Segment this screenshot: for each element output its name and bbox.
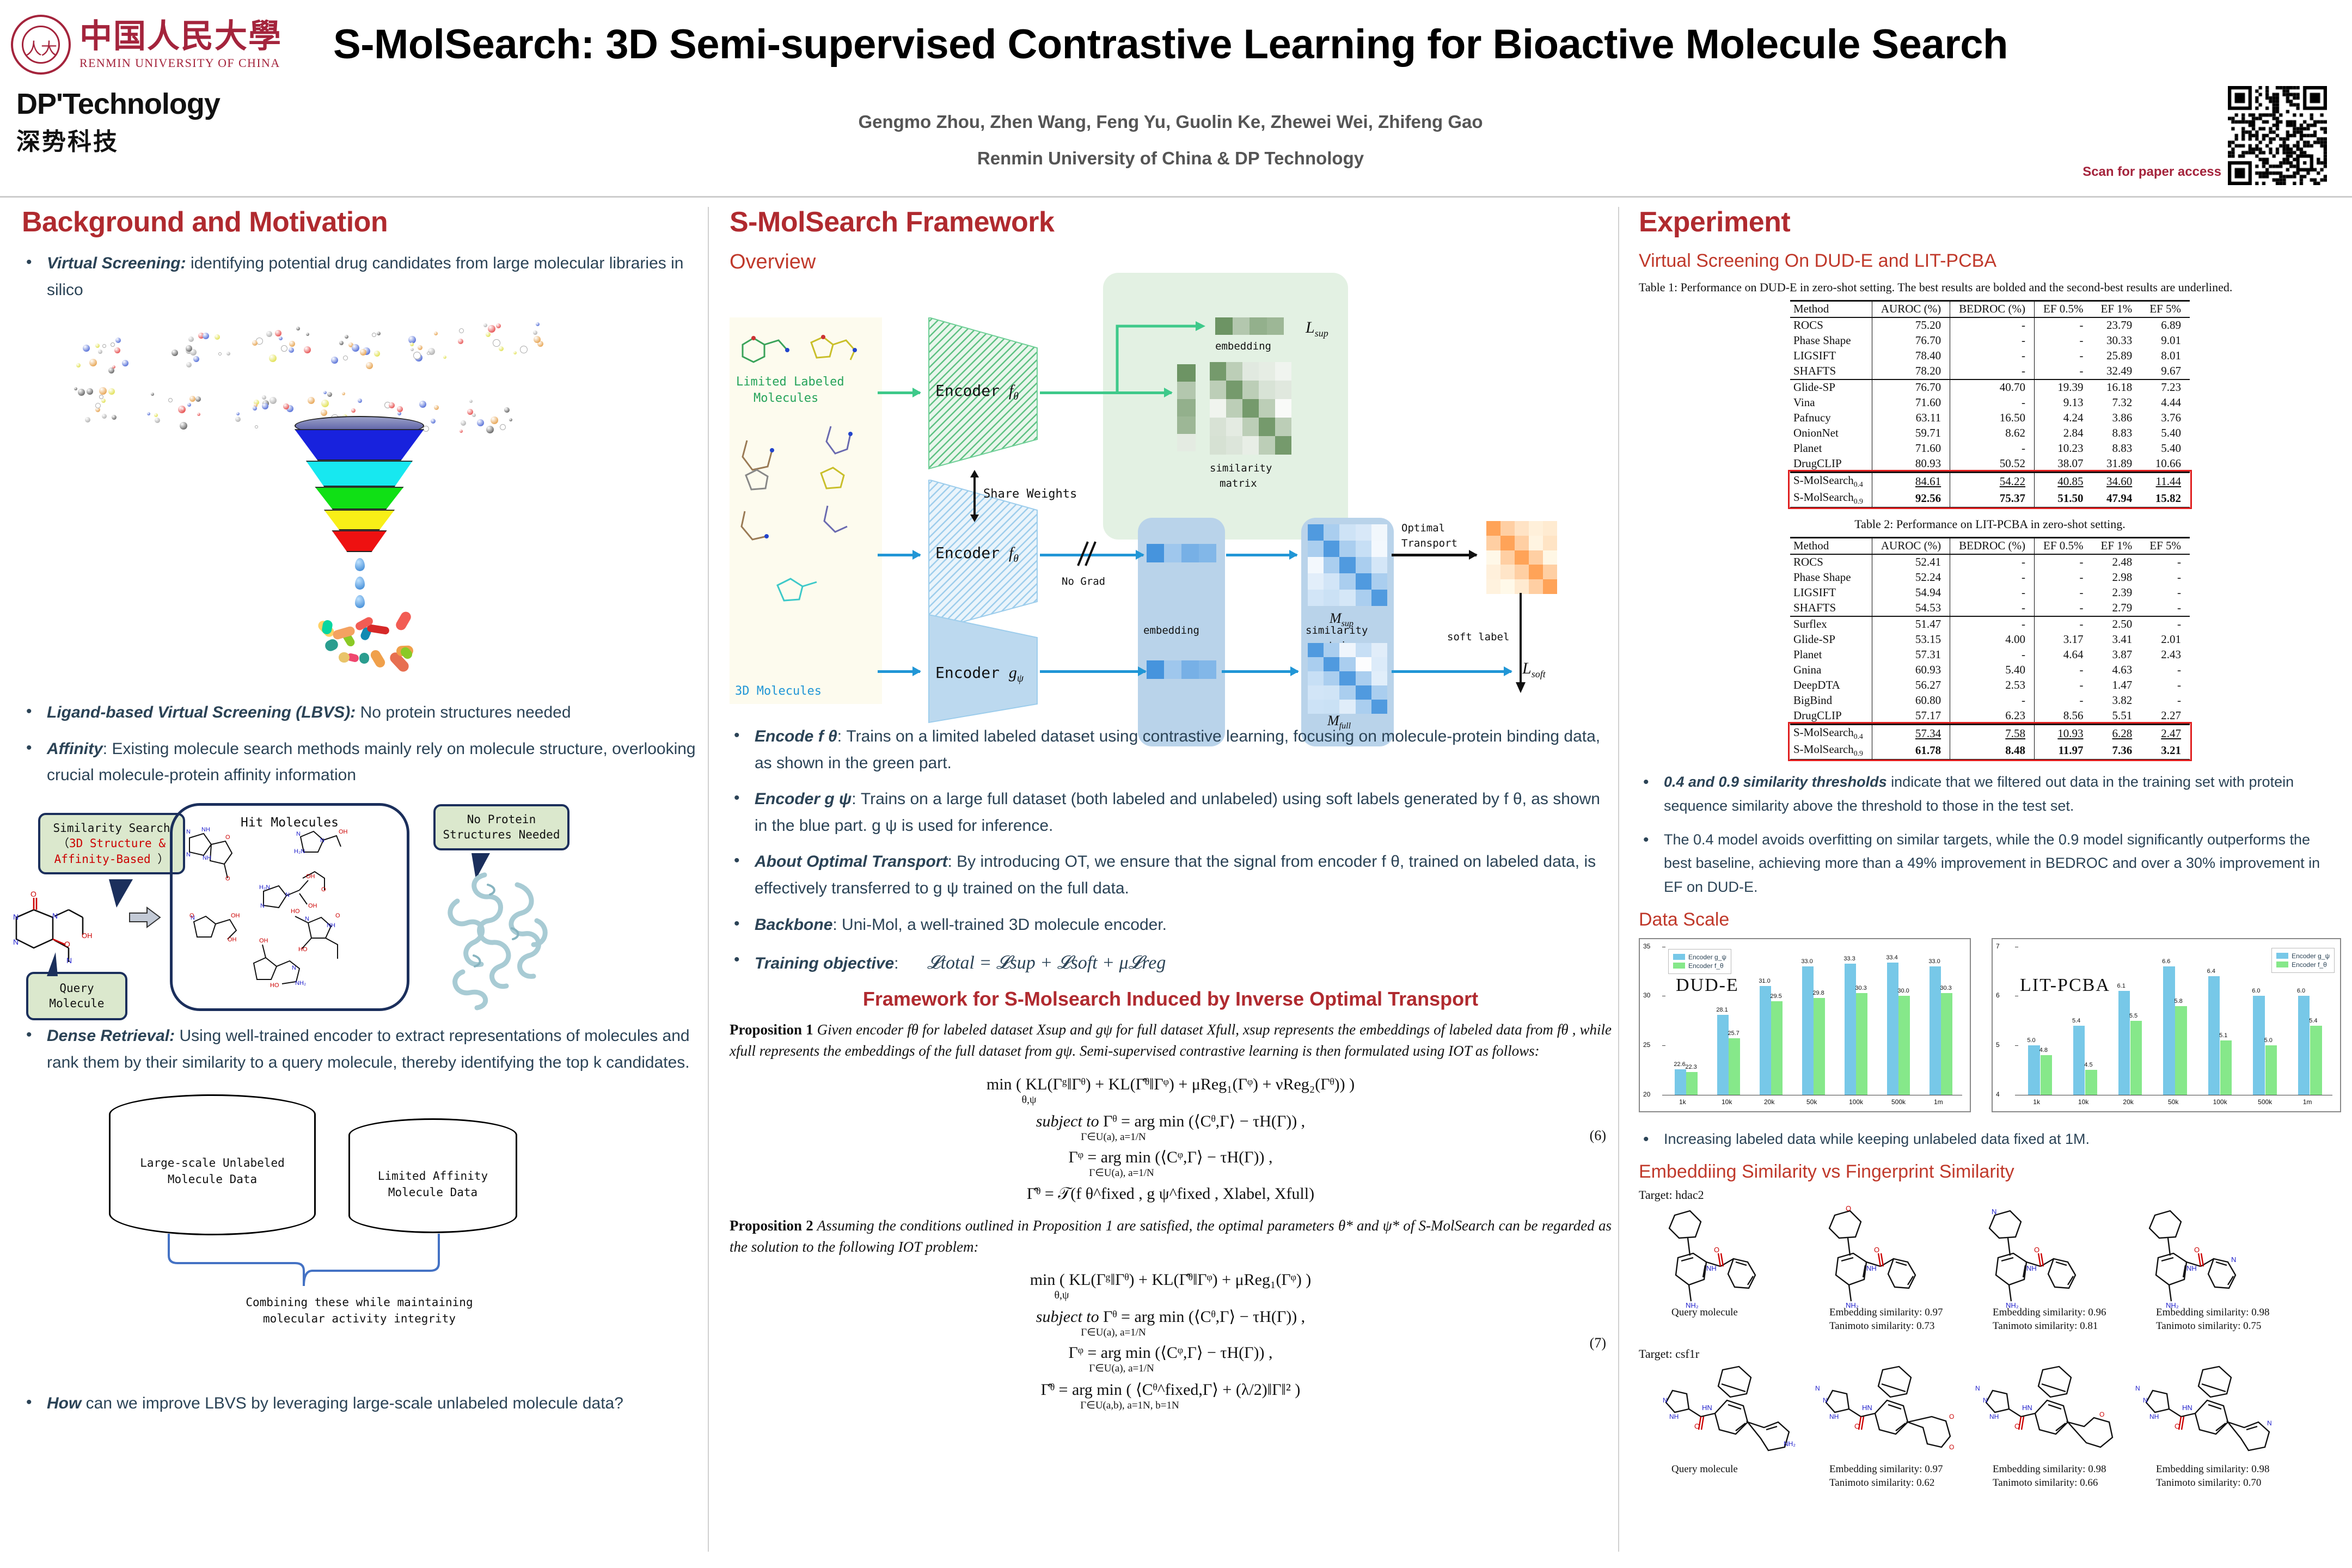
table-cell: 56.27 — [1872, 678, 1950, 693]
table-cell: 3.87 — [2092, 647, 2141, 663]
matrix-cell — [1242, 381, 1259, 399]
poster-root: 人大 中国人民大學 RENMIN UNIVERSITY OF CHINA DP'… — [0, 0, 2352, 1568]
matrix-cell — [1356, 685, 1371, 700]
list-item: Increasing labeled data while keeping un… — [1639, 1128, 2341, 1151]
funnel-icon — [294, 425, 425, 550]
svg-text:O: O — [1949, 1443, 1954, 1451]
molecule-3d-model — [76, 335, 158, 384]
matrix-cell — [1242, 418, 1259, 436]
caption-line-1: Query molecule — [1671, 1462, 1829, 1477]
y-axis-tick-mark — [1662, 947, 1665, 947]
funnel-segment-yellow — [324, 510, 395, 530]
university-seal-icon: 人大 — [11, 15, 71, 75]
table-cell: 63.11 — [1872, 411, 1950, 426]
table-column-header: AUROC (%) — [1872, 537, 1950, 554]
table-cell: DeepDTA — [1790, 678, 1872, 693]
table-cell: ROCS — [1790, 317, 1872, 333]
green-branch-connector — [1114, 320, 1212, 396]
x-axis-tick: 1k — [1679, 1098, 1686, 1106]
list-item: How can we improve LBVS by leveraging la… — [22, 1391, 697, 1417]
loss-symbol: L — [1306, 318, 1315, 336]
embedding-strip-top — [1215, 317, 1284, 335]
arrow-to-optimal-transport — [1392, 554, 1477, 556]
bullet-text: The 0.4 model avoids overfitting on simi… — [1664, 831, 2320, 895]
table-column-header: EF 1% — [2092, 301, 2141, 317]
list-item-training-objective: Training objective: 𝓛total = 𝓛sup + 𝓛sof… — [730, 948, 1612, 978]
optimal-transport-label-1: Optimal — [1401, 522, 1445, 534]
y-axis-tick-mark — [2015, 1045, 2018, 1046]
svg-text:O: O — [189, 912, 194, 919]
list-item: Encoder g ψ: Trains on a large full data… — [730, 786, 1612, 839]
hdac2-molecule-structures: ONHNH₂ONHNH₂OONHNH₂NONHNH₂N — [1650, 1205, 2319, 1314]
background-bullet-list-2: Ligand-based Virtual Screening (LBVS): N… — [22, 700, 697, 789]
matrix-cell — [1259, 399, 1275, 418]
legend-entry: Encoder f_θ — [1673, 962, 1726, 970]
caption-block: Embedding similarity: 0.98 Tanimoto simi… — [2156, 1462, 2319, 1490]
table-row: LIGSIFT54.94--2.39- — [1790, 585, 2190, 601]
table-row: DeepDTA56.272.53-1.47- — [1790, 678, 2190, 693]
table-row: LIGSIFT78.40--25.898.01 — [1790, 348, 2190, 364]
table-cell: 2.50 — [2092, 616, 2141, 632]
funnel-segment-cyan — [306, 461, 413, 487]
query-molecule-structure: O O OH N N N N — [12, 890, 115, 972]
matrix-cell — [1339, 541, 1355, 557]
table-cell: 1.47 — [2092, 678, 2141, 693]
matrix-cell — [1486, 579, 1500, 594]
x-axis-tick: 500k — [1891, 1098, 1906, 1106]
bar — [1729, 1038, 1739, 1094]
table-cell: - — [2141, 554, 2190, 570]
table-column-header: EF 5% — [2141, 301, 2190, 317]
caption-line-2: Tanimoto similarity: 0.81 — [1993, 1319, 2156, 1333]
table-cell: 23.79 — [2092, 317, 2141, 333]
svg-text:N: N — [1823, 1396, 1828, 1404]
encoder-symbol: f — [1009, 544, 1013, 562]
table-cell: 75.20 — [1872, 317, 1950, 333]
qr-caption: Scan for paper access — [2082, 164, 2221, 180]
table-cell: - — [1950, 616, 2035, 632]
table-cell: Vina — [1790, 395, 1872, 411]
table-cell: 6.89 — [2141, 317, 2190, 333]
loss-subscript: soft — [1532, 669, 1546, 679]
matrix-cell — [1177, 364, 1196, 382]
table-1-caption: Table 1: Performance on DUD-E in zero-sh… — [1639, 279, 2341, 296]
table-cell: LIGSIFT — [1790, 348, 1872, 364]
matrix-cell — [1275, 418, 1291, 436]
y-axis-tick: 30 — [1643, 991, 1650, 999]
svg-text:N: N — [320, 837, 324, 844]
y-axis-tick: 6 — [1996, 991, 2000, 999]
table-cell: 71.60 — [1872, 395, 1950, 411]
subsection-virtual-screening: Virtual Screening On DUD-E and LIT-PCBA — [1639, 250, 2341, 272]
matrix-cell — [1181, 544, 1199, 562]
eq6-line-1-sub: θ,ψ — [446, 1094, 1612, 1106]
encoder-g-label: Encoder gψ — [935, 664, 1024, 685]
molecule-comparison-row-csf1r: OHNNNHNH₂OHNNNHNOOOHNNNHNOOHNNNHNN Query… — [1639, 1361, 2341, 1486]
bar — [2130, 1021, 2142, 1095]
table-cell: 3.76 — [2141, 411, 2190, 426]
molecule-3d-model — [327, 329, 408, 378]
matrix-cell — [1371, 643, 1387, 657]
svg-text:NH: NH — [201, 826, 210, 833]
molecule-3d-model — [250, 326, 332, 375]
table-cell: 76.70 — [1872, 333, 1950, 348]
molecule-3d-model — [457, 398, 539, 447]
encoder-symbol: f — [1009, 382, 1013, 400]
matrix-cell — [1339, 657, 1355, 671]
matrix-cell — [1500, 579, 1515, 594]
bullet-lead: Affinity — [47, 740, 103, 758]
table-cell: 2.43 — [2141, 647, 2190, 663]
bullet-text: Increasing labeled data while keeping un… — [1664, 1131, 2090, 1147]
matrix-cell — [1324, 685, 1339, 700]
table-cell: 57.31 — [1872, 647, 1950, 663]
eq6-line-4: Γ̂ᶿ = 𝒯(f θ^fixed , g ψ^fixed , Xlabel, … — [730, 1185, 1612, 1203]
matrix-cell — [1500, 536, 1515, 550]
svg-text:O: O — [2014, 1422, 2020, 1430]
svg-text:O: O — [30, 890, 36, 898]
table-cell: 3.17 — [2035, 632, 2092, 647]
x-axis-tick: 1k — [2033, 1098, 2040, 1106]
no-protein-line-2: Structures Needed — [442, 827, 561, 842]
renmin-university-logo: 人大 中国人民大學 RENMIN UNIVERSITY OF CHINA — [11, 12, 316, 77]
matrix-cell — [1177, 434, 1196, 451]
labeled-molecule-thumbnails — [735, 326, 877, 364]
svg-text:OH: OH — [306, 873, 315, 880]
data-scale-charts: 2025303522.622.31k28.125.710k31.029.520k… — [1639, 936, 2341, 1154]
bar — [2208, 976, 2220, 1095]
bar — [2163, 966, 2175, 1095]
similarity-matrix-label-top-2: matrix — [1220, 477, 1257, 489]
matrix-cell — [1324, 671, 1339, 685]
matrix-cell — [1308, 573, 1324, 590]
x-axis-line — [1665, 1095, 1962, 1095]
svg-text:O: O — [1949, 1413, 1954, 1420]
bullet-lead: Encoder g ψ — [755, 790, 852, 808]
table-cell: - — [1950, 554, 2035, 570]
svg-text:NH: NH — [203, 855, 211, 861]
matrix-cell — [1181, 660, 1199, 679]
matrix-symbol: M — [1330, 610, 1342, 626]
list-item: Ligand-based Virtual Screening (LBVS): N… — [22, 700, 697, 726]
table-cell: 8.83 — [2092, 441, 2141, 456]
bullet-text: can we improve LBVS by leveraging large-… — [81, 1394, 623, 1412]
matrix-cell — [1371, 590, 1387, 606]
y-axis-tick-mark — [1662, 996, 1665, 996]
matrix-cell — [1543, 565, 1557, 579]
equation-7-number: (7) — [1590, 1335, 1606, 1351]
svg-text:O: O — [321, 886, 326, 893]
bar-value-label: 25.7 — [1728, 1030, 1739, 1037]
similarity-matrix-label-mid-1: similarity — [1306, 624, 1368, 636]
matrix-cell — [1147, 544, 1164, 562]
droplets-icon — [355, 558, 365, 614]
matrix-cell — [1308, 671, 1324, 685]
x-axis-tick: 1m — [2303, 1098, 2312, 1106]
qr-code-icon[interactable] — [2228, 86, 2327, 185]
callout-line-3: Affinity-Based — [54, 853, 151, 866]
table-row: OnionNet59.718.622.848.835.40 — [1790, 426, 2190, 441]
x-axis-tick: 20k — [1764, 1098, 1774, 1106]
bar — [2220, 1040, 2232, 1095]
similarity-matrix-vector-top — [1177, 364, 1196, 451]
svg-text:N: N — [186, 852, 191, 858]
bar — [2041, 1055, 2052, 1095]
svg-text:HO: HO — [291, 908, 300, 915]
equation-7-block: min ( KL(Γᵍ‖Γᶿ) + KL(Γ̂ᶿ‖Γᵠ) + μReg₁(Γᵠ)… — [730, 1271, 1612, 1412]
optimal-transport-matrix — [1486, 521, 1557, 594]
bullet-lead: Ligand-based Virtual Screening (LBVS): — [47, 703, 356, 721]
bar-value-label: 6.4 — [2207, 968, 2215, 975]
optimal-transport-label-2: Transport — [1401, 537, 1457, 549]
matrix-cell — [1356, 700, 1371, 714]
matrix-cell — [1500, 550, 1515, 565]
table-cell: - — [2035, 333, 2092, 348]
matrix-cell — [1233, 317, 1250, 335]
arrow-labeled-to-encoder — [878, 391, 920, 394]
matrix-cell — [1259, 436, 1275, 455]
bullet-lead: How — [47, 1394, 81, 1412]
bar-value-label: 5.0 — [2264, 1037, 2273, 1044]
encoder-subscript: θ — [1013, 391, 1019, 402]
table-cell: 25.89 — [2092, 348, 2141, 364]
caption-line-1: Embedding similarity: 0.98 — [2156, 1462, 2319, 1477]
chart-dude: 2025303522.622.31k28.125.710k31.029.520k… — [1639, 938, 1971, 1112]
caption-block: Embedding similarity: 0.98 Tanimoto simi… — [2156, 1306, 2319, 1333]
table-cell: 9.67 — [2141, 364, 2190, 379]
svg-text:N: N — [13, 912, 19, 921]
svg-text:N: N — [285, 892, 290, 898]
bar-value-label: 4.5 — [2084, 1062, 2092, 1068]
encoder-subscript: θ — [1013, 553, 1019, 565]
table-column-header: Method — [1790, 301, 1872, 317]
svg-text:OH: OH — [308, 903, 317, 909]
callout-paren-open: （ — [58, 837, 69, 850]
molecule-3d-model — [479, 321, 561, 370]
svg-text:N: N — [1983, 1396, 1988, 1404]
bar-value-label: 5.1 — [2219, 1032, 2227, 1039]
eq7-line-3: Γᵠ = arg min (⟨Cᵠ,Γ⟩ − τH(Γ)) , — [730, 1343, 1612, 1362]
table-cell: 52.24 — [1872, 570, 1950, 585]
table-cell: - — [1950, 441, 2035, 456]
pill-icon — [323, 638, 340, 653]
bar-value-label: 30.3 — [1940, 985, 1951, 991]
encoder-label-text: Encoder — [935, 544, 1000, 562]
matrix-cell — [1371, 700, 1387, 714]
cylinder-label-line1: Large-scale Unlabeled — [109, 1155, 316, 1171]
table-column-header: AUROC (%) — [1872, 301, 1950, 317]
similarity-matrix-msup — [1308, 524, 1387, 606]
table-cell: 2.48 — [2092, 554, 2141, 570]
svg-text:N: N — [2135, 1385, 2140, 1392]
caption-block: Embedding similarity: 0.98 Tanimoto simi… — [1993, 1462, 2156, 1490]
framework-bullet-list: Encode f θ: Trains on a limited labeled … — [730, 724, 1612, 978]
table-cell: 4.63 — [2092, 663, 2141, 678]
svg-text:O: O — [64, 940, 70, 948]
eq7-line-4-sub: Γ∈U(a,b), a=1N, b=1N — [648, 1399, 1612, 1412]
svg-text:NH₂: NH₂ — [1784, 1440, 1796, 1448]
table-cell: 51.47 — [1872, 616, 1950, 632]
matrix-cell — [1249, 317, 1267, 335]
svg-text:NH: NH — [1866, 1264, 1877, 1272]
bullet-lead: Dense Retrieval: — [47, 1027, 175, 1045]
cylinder-unlabeled-data: Large-scale Unlabeled Molecule Data — [109, 1094, 316, 1236]
table-row: ROCS75.20--23.796.89 — [1790, 317, 2190, 333]
table-cell: 4.64 — [2035, 647, 2092, 663]
equation-6-number: (6) — [1590, 1128, 1606, 1144]
bar — [1887, 963, 1898, 1095]
bar — [1814, 998, 1824, 1095]
matrix-cell — [1308, 700, 1324, 714]
matrix-cell — [1371, 541, 1387, 557]
table-row: Planet57.31-4.643.872.43 — [1790, 647, 2190, 663]
svg-text:N: N — [66, 956, 72, 965]
arrow-g-to-embedding-bot — [1040, 670, 1146, 673]
author-list: Gengmo Zhou, Zhen Wang, Feng Yu, Guolin … — [305, 112, 2036, 132]
table-cell: 2.84 — [2035, 426, 2092, 441]
university-name-en: RENMIN UNIVERSITY OF CHINA — [79, 56, 282, 70]
matrix-cell — [1486, 550, 1500, 565]
matrix-cell — [1339, 643, 1355, 657]
x-axis-tick: 1m — [1934, 1098, 1943, 1106]
matrix-cell — [1324, 541, 1339, 557]
matrix-cell — [1371, 573, 1387, 590]
subsection-overview: Overview — [730, 250, 1612, 274]
table-cell: - — [1950, 317, 2035, 333]
table-row: Vina71.60-9.137.324.44 — [1790, 395, 2190, 411]
matrix-cell — [1324, 590, 1339, 606]
embedding-label-mid: embedding — [1143, 624, 1199, 636]
caption-line-1: Embedding similarity: 0.98 — [2156, 1306, 2319, 1320]
svg-text:HO: HO — [298, 946, 308, 953]
matrix-cell — [1486, 521, 1500, 536]
bar — [2310, 1026, 2322, 1095]
table-cell: 52.41 — [1872, 554, 1950, 570]
svg-text:O: O — [2034, 1246, 2039, 1254]
molecule-3d-model — [142, 389, 223, 438]
bar — [1802, 966, 1813, 1095]
bar — [2085, 1070, 2097, 1094]
matrix-cell — [1371, 671, 1387, 685]
matrix-cell — [1529, 565, 1543, 579]
table-cell: 4.00 — [1950, 632, 2035, 647]
table-cell: - — [1950, 395, 2035, 411]
table-row: Surflex51.47--2.50- — [1790, 616, 2190, 632]
proposition-1-text: Given encoder fθ for labeled dataset Xsu… — [730, 1021, 1612, 1059]
matrix-cell — [1515, 536, 1529, 550]
arrow-mfull-to-lsoft — [1392, 670, 1511, 673]
matrix-cell — [1226, 362, 1242, 381]
legend-swatch — [2276, 961, 2288, 967]
table-2-caption: Table 2: Performance on LIT-PCBA in zero… — [1639, 516, 2341, 532]
table-cell: 60.80 — [1872, 693, 1950, 708]
svg-text:O: O — [2175, 1422, 2180, 1430]
table-cell: - — [2141, 585, 2190, 601]
similarity-search-figure: Similarity Search （3D Structure & Affini… — [22, 799, 697, 1016]
table-cell: 3.82 — [2092, 693, 2141, 708]
table-row: Phase Shape76.70--30.339.01 — [1790, 333, 2190, 348]
table-row: SHAFTS78.20--32.499.67 — [1790, 364, 2190, 379]
table-cell: SHAFTS — [1790, 601, 1872, 616]
list-item: The 0.4 model avoids overfitting on simi… — [1639, 828, 2341, 899]
bullet-text: : Uni-Mol, a well-trained 3D molecule en… — [832, 916, 1167, 934]
cylinder-label-line1: Limited Affinity — [348, 1168, 517, 1184]
table-cell: Glide-SP — [1790, 379, 1872, 395]
eq7-line-2-sub: Γ∈U(a), a=1/N — [615, 1326, 1612, 1339]
matrix-cell — [1543, 579, 1557, 594]
chart-title: DUD-E — [1676, 975, 1739, 996]
table-cell: - — [2141, 601, 2190, 616]
svg-text:N: N — [2267, 1419, 2272, 1427]
query-molecule-callout: Query Molecule — [26, 972, 127, 1020]
chart-legend: Encoder g_ψEncoder f_θ — [1668, 949, 1731, 974]
matrix-cell — [1164, 544, 1181, 562]
svg-text:O: O — [1714, 1246, 1719, 1254]
matrix-cell — [1515, 579, 1529, 594]
svg-text:O: O — [335, 912, 340, 919]
matrix-cell — [1500, 565, 1515, 579]
matrix-cell — [1515, 550, 1529, 565]
svg-text:N: N — [186, 829, 191, 835]
table-cell: Pafnucy — [1790, 411, 1872, 426]
dp-technology-logo: DP'Technology 深势科技 — [16, 87, 299, 157]
matrix-cell — [1242, 436, 1259, 455]
eq6-line-2: Γᶿ = arg min (⟨Cᶿ,Γ⟩ − τH(Γ)) , — [1103, 1112, 1305, 1130]
proposition-2-text: Assuming the conditions outlined in Prop… — [730, 1217, 1612, 1255]
table-cell: 30.33 — [2092, 333, 2141, 348]
matrix-cell — [1275, 436, 1291, 455]
results-highlight-box — [1788, 722, 2192, 761]
arrow-unlabeled-to-encoder-f — [878, 554, 920, 556]
matrix-cell — [1529, 550, 1543, 565]
list-item: Virtual Screening: identifying potential… — [22, 250, 697, 303]
table-cell: 76.70 — [1872, 379, 1950, 395]
embedding-strip-bot — [1147, 660, 1216, 679]
matrix-cell — [1529, 536, 1543, 550]
no-protein-callout: No Protein Structures Needed — [433, 804, 569, 850]
callout-line-1: Similarity Search — [47, 820, 176, 836]
svg-text:N: N — [1815, 1385, 1820, 1392]
caption-block: Query molecule — [1671, 1306, 1829, 1333]
svg-text:O: O — [1846, 1205, 1851, 1212]
legend-label: Encoder f_θ — [1688, 962, 1724, 970]
matrix-cell — [1308, 590, 1324, 606]
table-cell: - — [1950, 585, 2035, 601]
matrix-cell — [1356, 541, 1371, 557]
bar-value-label: 33.0 — [1928, 958, 1940, 965]
matrix-cell — [1324, 573, 1339, 590]
bar-value-label: 6.0 — [2297, 988, 2305, 994]
legend-label: Encoder g_ψ — [2292, 952, 2330, 960]
table-cell: 16.50 — [1950, 411, 2035, 426]
table-cell: - — [2035, 693, 2092, 708]
university-name-cn: 中国人民大學 — [79, 20, 282, 54]
limited-labeled-label-1: Limited Labeled — [736, 375, 844, 389]
molecule-3d-model — [403, 325, 485, 374]
matrix-cell — [1356, 573, 1371, 590]
svg-text:O: O — [225, 875, 230, 882]
matrix-cell — [1356, 590, 1371, 606]
eq7-line-2: Γᶿ = arg min (⟨Cᶿ,Γ⟩ − τH(Γ)) , — [1103, 1308, 1305, 1326]
list-item: Backbone: Uni-Mol, a well-trained 3D mol… — [730, 912, 1612, 939]
table-row: ROCS52.41--2.48- — [1790, 554, 2190, 570]
matrix-cell — [1529, 579, 1543, 594]
table-cell: 59.71 — [1872, 426, 1950, 441]
background-bullet-list-1: Virtual Screening: identifying potential… — [22, 250, 697, 303]
cylinder-label-line2: Molecule Data — [348, 1185, 517, 1200]
eq7-line-4: Γ̂ᶿ = arg min ( ⟨Cᶿ^fixed,Γ⟩ + (λ/2)‖Γ‖²… — [730, 1380, 1612, 1399]
caption-line-2: Tanimoto similarity: 0.66 — [1993, 1476, 2156, 1490]
